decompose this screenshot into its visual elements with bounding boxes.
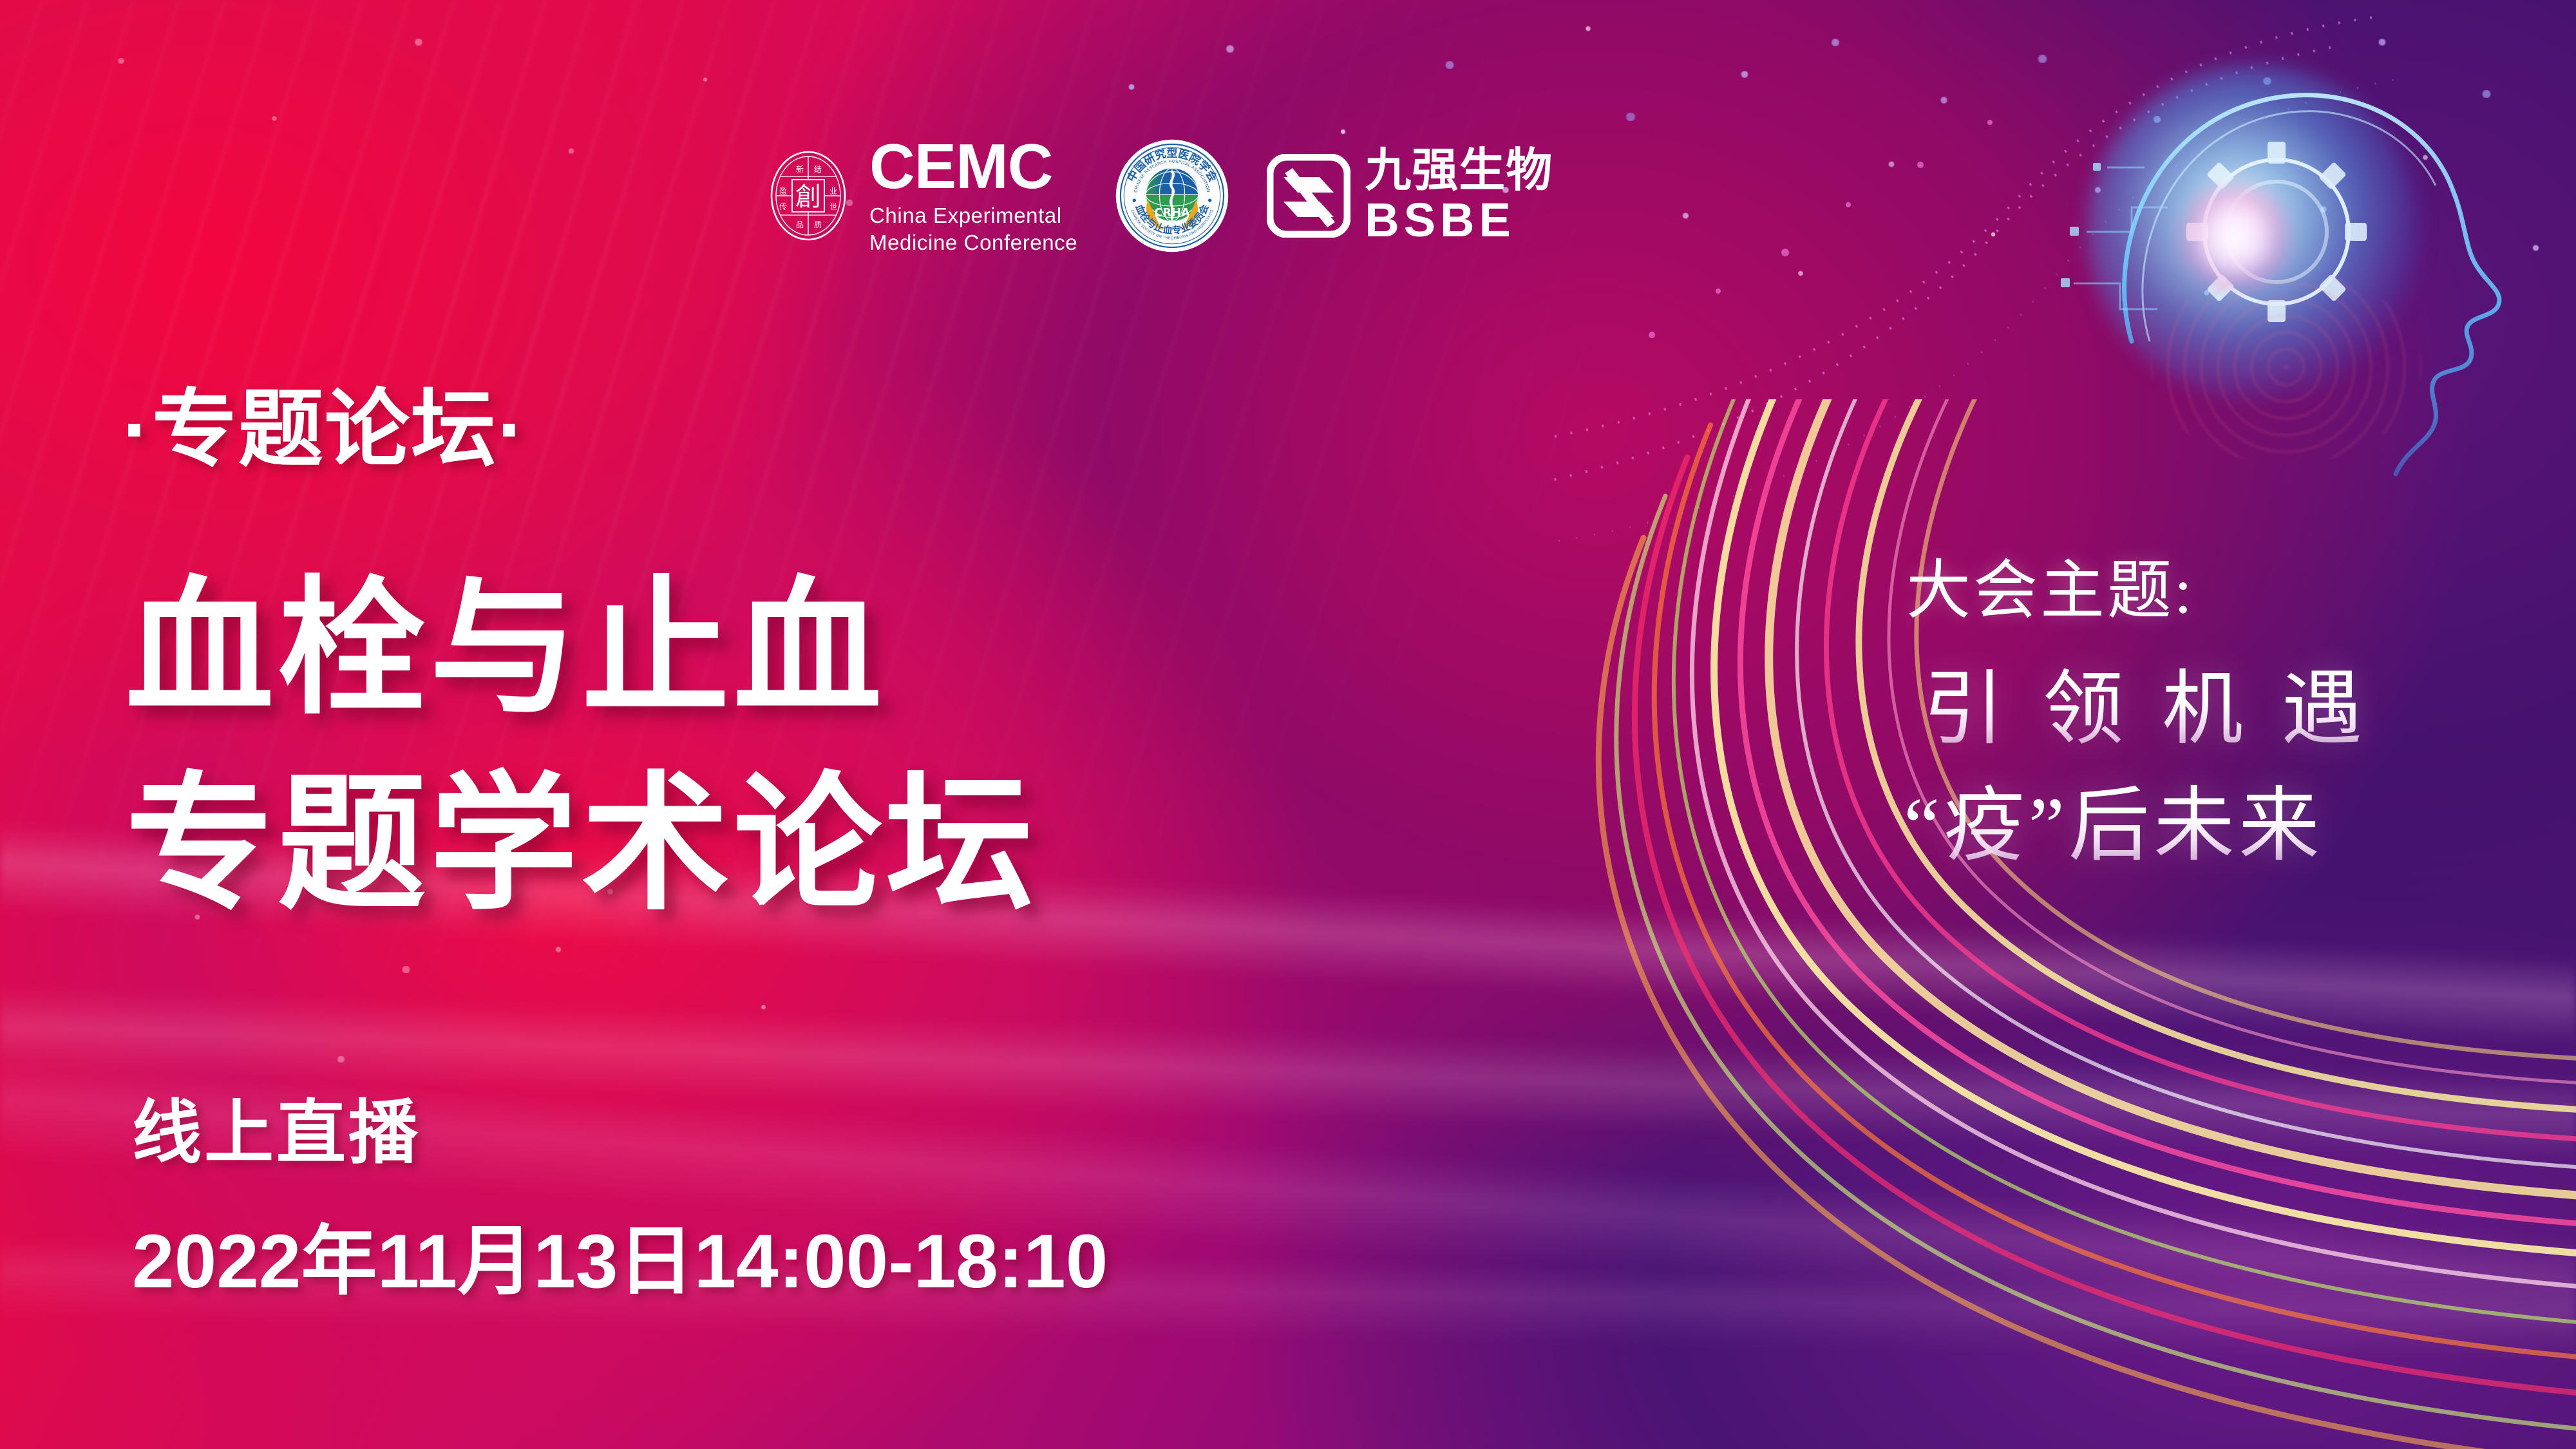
cemc-logo[interactable]: 創 新结 盈业 传世 品质 CEMC China Experimental Me… [760, 135, 1077, 257]
cemc-seal-icon: 創 新结 盈业 传世 品质 [760, 147, 857, 244]
cemc-subtitle-line1: China Experimental [869, 202, 1077, 229]
event-datetime: 2022年11月13日14:00-18:10 [132, 1199, 1108, 1309]
svg-text:新: 新 [796, 164, 804, 174]
live-stream-label: 线上直播 [132, 1077, 421, 1177]
bsbe-logo[interactable]: 九强生物 BSBE [1267, 147, 1553, 244]
svg-text:世: 世 [829, 202, 837, 211]
headline-line-2: 专题学术论坛 [126, 746, 1037, 942]
cemc-subtitle: China Experimental Medicine Conference [869, 202, 1077, 256]
forum-kicker: ·专题论坛· [122, 361, 527, 484]
conference-theme-label: 大会主题: [1906, 538, 2486, 631]
conference-theme-block: 大会主题: 引 领 机 遇 “疫”后未来 [1906, 538, 2486, 885]
svg-text:业: 业 [829, 187, 837, 196]
page-title: 血栓与止血 专题学术论坛 [126, 551, 1037, 942]
logo-row: 創 新结 盈业 传世 品质 CEMC China Experimental Me… [760, 135, 1553, 257]
bsbe-s-mark-icon [1267, 154, 1350, 238]
bsbe-text-block: 九强生物 BSBE [1365, 147, 1553, 244]
svg-text:结: 结 [814, 165, 822, 174]
conference-banner: 創 新结 盈业 传世 品质 CEMC China Experimental Me… [0, 0, 2576, 1449]
svg-text:质: 质 [814, 220, 822, 229]
svg-text:盈: 盈 [779, 187, 787, 196]
crha-acronym: CRHA [1155, 206, 1191, 220]
crha-logo-icon[interactable]: 中国研究型医院学会 CHINESE RESEARCH HOSPITAL ASSO… [1115, 138, 1229, 253]
cemc-subtitle-line2: Medicine Conference [869, 229, 1077, 256]
bsbe-chinese-name: 九强生物 [1365, 147, 1553, 194]
cemc-text-block: CEMC China Experimental Medicine Confere… [869, 135, 1077, 257]
cemc-seal-character: 創 [795, 182, 821, 212]
cemc-wordmark: CEMC [869, 135, 1077, 197]
svg-text:传: 传 [779, 202, 787, 211]
svg-text:品: 品 [796, 220, 804, 229]
bsbe-english-name: BSBE [1365, 196, 1553, 244]
headline-line-1: 血栓与止血 [126, 565, 885, 731]
conference-theme-line-2: “疫”后未来 [1904, 770, 2486, 885]
head-core-glow [2170, 187, 2299, 290]
conference-theme-line-1: 引 领 机 遇 [1923, 653, 2486, 768]
